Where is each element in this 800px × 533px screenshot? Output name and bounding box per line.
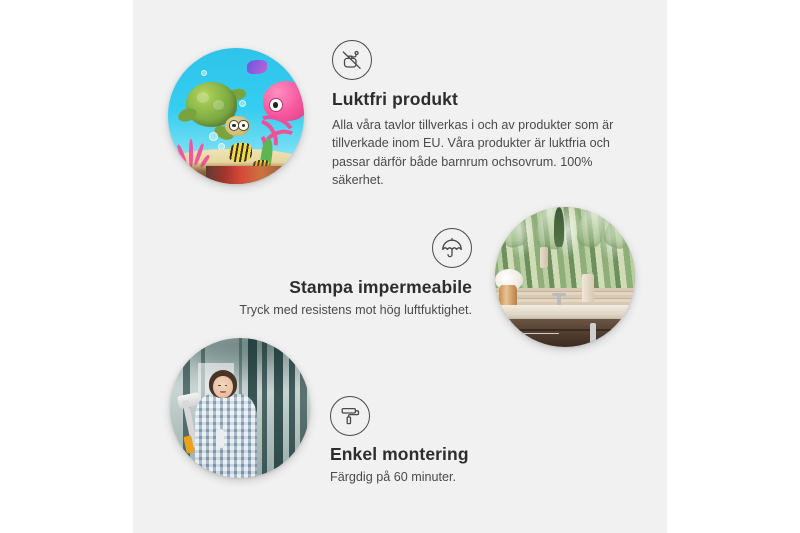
turtle-eye xyxy=(229,120,239,130)
door-handle xyxy=(590,323,596,343)
drawer-handle xyxy=(520,333,559,334)
scene-foreground-strip xyxy=(206,166,285,184)
bathroom-leaf-wallpaper-circle-image xyxy=(495,207,635,347)
feature-title: Enkel montering xyxy=(330,444,630,465)
umbrella-icon xyxy=(432,228,472,268)
promo-banner: Luktfri produkt Alla våra tavlor tillver… xyxy=(0,0,800,533)
leaf xyxy=(601,209,635,252)
leaf xyxy=(496,207,528,249)
no-fragrance-icon xyxy=(332,40,372,80)
vanity-cabinet xyxy=(503,319,635,347)
bathroom-bottle xyxy=(540,247,548,268)
forest-canopy xyxy=(170,338,310,397)
leaf xyxy=(575,207,608,249)
striped-fish xyxy=(229,143,252,162)
woman-face xyxy=(213,376,233,398)
woman-paint-roller-forest-circle-image xyxy=(170,338,310,478)
paint-roller-icon xyxy=(330,396,370,436)
bathroom-bottle xyxy=(582,274,595,302)
dark-leaf xyxy=(554,207,564,247)
feature-body: Alla våra tavlor tillverkas i och av pro… xyxy=(332,116,632,190)
feature-title: Stampa impermeabile xyxy=(190,277,472,298)
woman-plaid-shirt xyxy=(195,394,257,478)
feature-body: Färgdig på 60 minuter. xyxy=(330,470,630,484)
underwater-cartoon-circle-image xyxy=(168,48,304,184)
feature-block-waterproof: Stampa impermeabile Tryck med resistens … xyxy=(190,228,472,317)
feature-block-easy-install: Enkel montering Färgdig på 60 minuter. xyxy=(330,396,630,484)
feature-title: Luktfri produkt xyxy=(332,89,632,110)
turtle-eye xyxy=(238,120,248,130)
feature-body: Tryck med resistens mot hög luftfuktighe… xyxy=(190,303,472,317)
turtle-head xyxy=(225,116,249,136)
blue-fish xyxy=(247,60,267,74)
feature-block-odourless: Luktfri produkt Alla våra tavlor tillver… xyxy=(332,40,632,190)
octopus-eye xyxy=(269,98,283,112)
bubble-icon xyxy=(201,70,207,76)
